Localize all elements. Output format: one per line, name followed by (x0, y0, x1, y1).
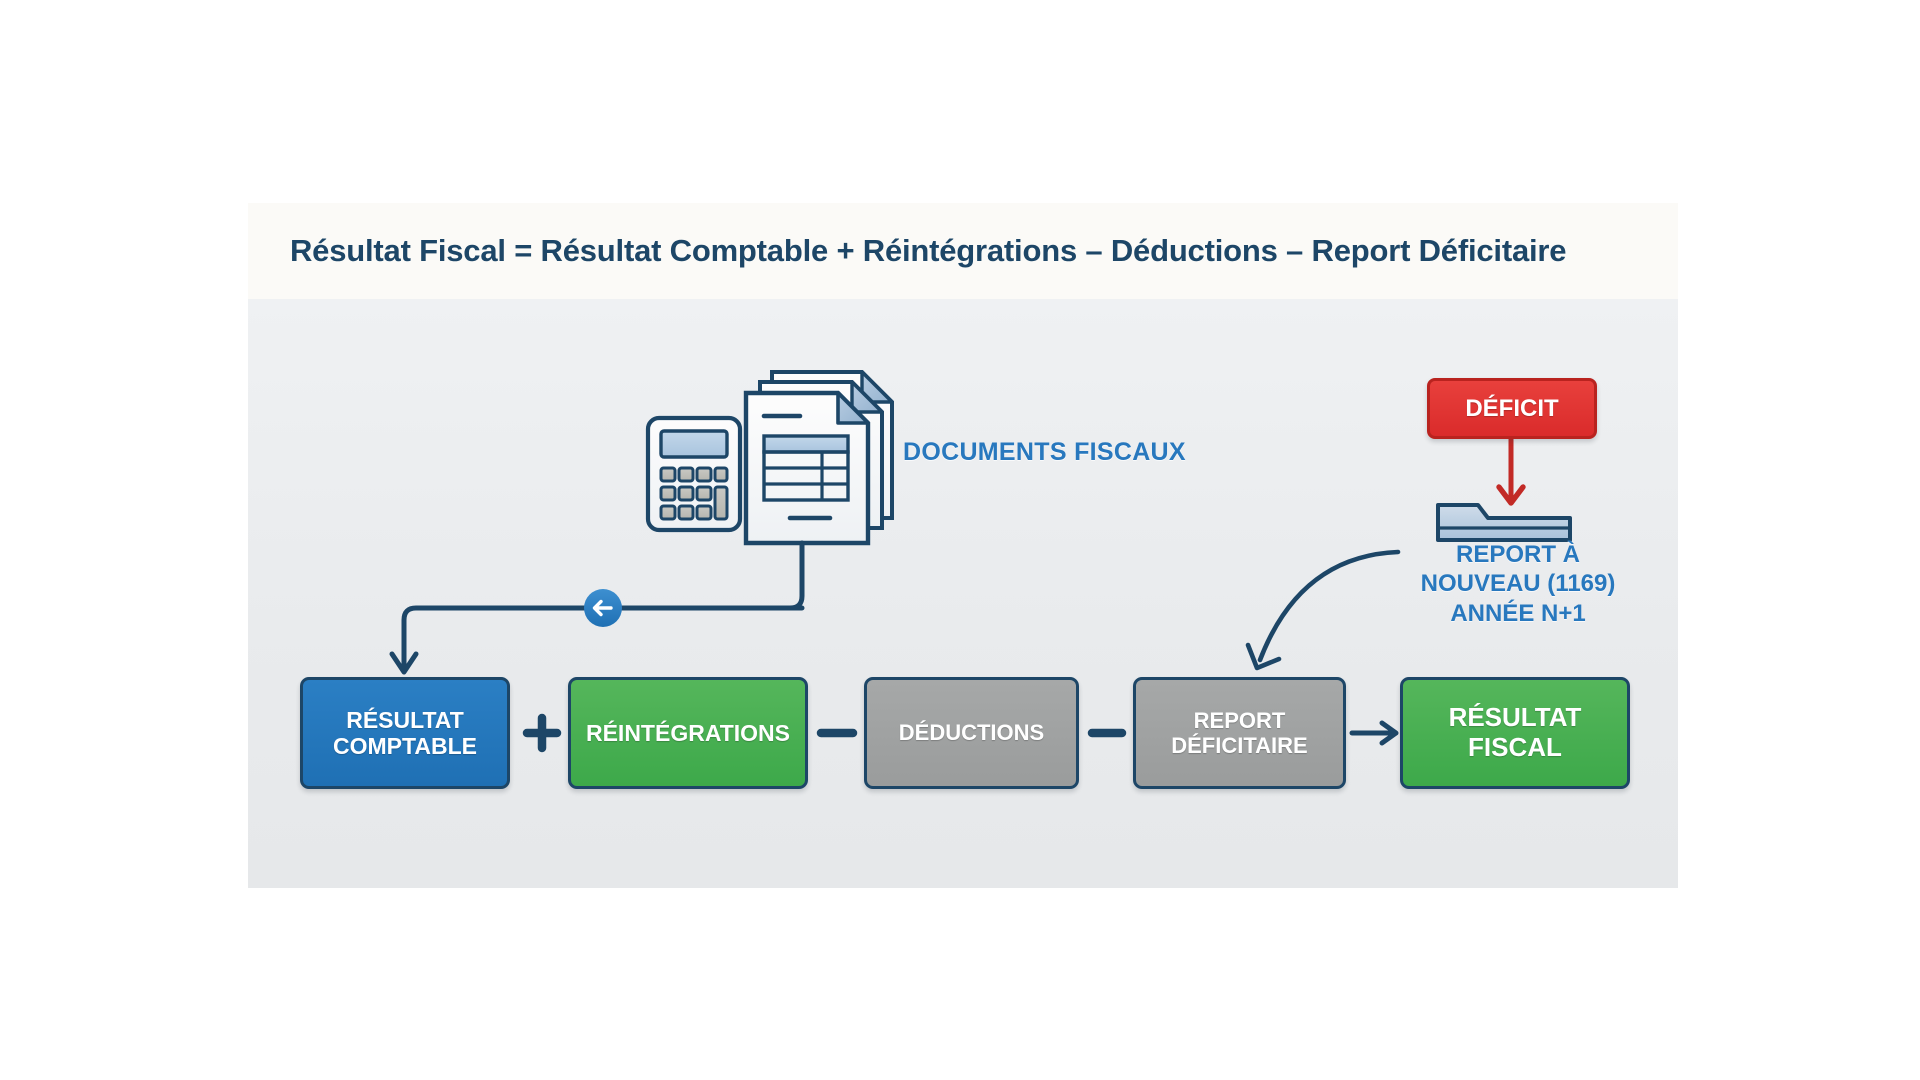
documents-label-line1: DOCUMENTS (903, 438, 1067, 466)
report-a-nouveau-label: REPORT À NOUVEAU (1169) ANNÉE N+1 (1404, 540, 1632, 628)
report-nouveau-line1: REPORT À (1456, 541, 1580, 568)
flow-box-deductions[interactable]: DÉDUCTIONS (864, 677, 1079, 789)
flow-box-report-deficitaire[interactable]: REPORT DÉFICITAIRE (1133, 677, 1346, 789)
report-nouveau-line3: ANNÉE N+1 (1450, 600, 1585, 627)
deficit-label: DÉFICIT (1465, 395, 1558, 422)
report-nouveau-line2: NOUVEAU (1169) (1421, 570, 1616, 597)
flow-box-line1: RÉINTÉGRATIONS (586, 720, 790, 746)
flow-box-resultat-comptable[interactable]: RÉSULTAT COMPTABLE (300, 677, 510, 789)
flow-box-line1: RÉSULTAT (1449, 703, 1582, 733)
flow-box-line2: COMPTABLE (333, 733, 477, 759)
flow-box-resultat-fiscal[interactable]: RÉSULTAT FISCAL (1400, 677, 1630, 789)
documents-fiscaux-label: DOCUMENTS FISCAUX (903, 437, 1186, 468)
flow-box-line2: FISCAL (1449, 733, 1582, 763)
deficit-badge[interactable]: DÉFICIT (1427, 378, 1597, 439)
card-header: Résultat Fiscal = Résultat Comptable + R… (248, 203, 1678, 299)
page-title: Résultat Fiscal = Résultat Comptable + R… (290, 233, 1566, 269)
flow-box-line2: DÉFICITAIRE (1171, 733, 1307, 758)
flow-box-line1: DÉDUCTIONS (899, 720, 1044, 745)
documents-label-line2: FISCAUX (1074, 438, 1186, 466)
diagram-canvas: Résultat Fiscal = Résultat Comptable + R… (0, 0, 1920, 1080)
flow-box-line1: RÉSULTAT (333, 707, 477, 733)
flow-box-reintegrations[interactable]: RÉINTÉGRATIONS (568, 677, 808, 789)
flow-box-line1: REPORT (1171, 708, 1307, 733)
